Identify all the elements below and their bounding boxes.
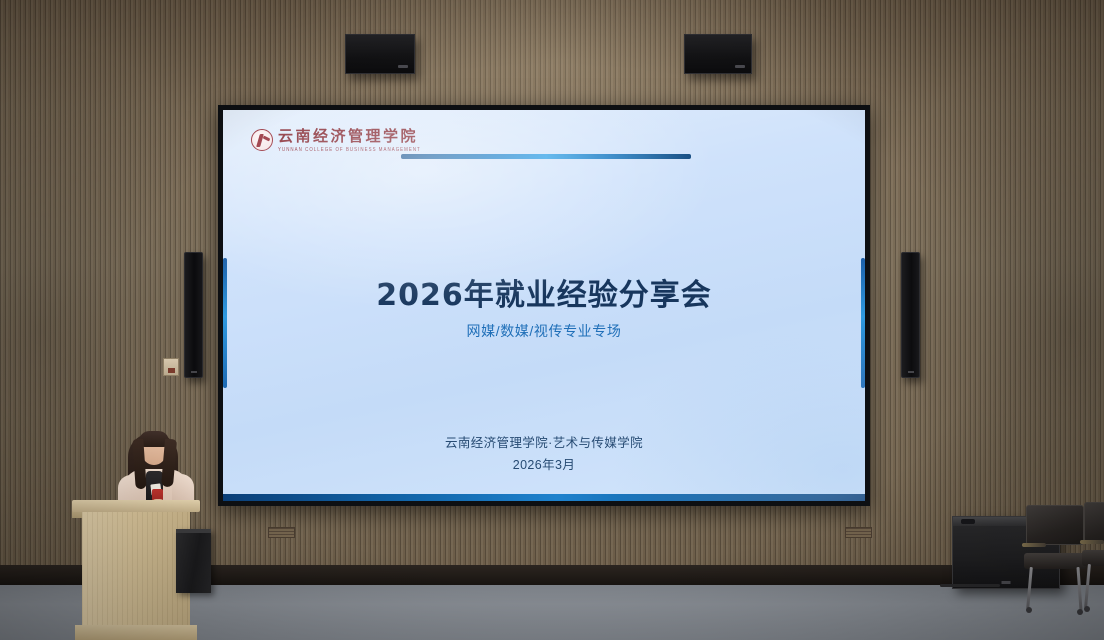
slide-header-rule [401, 154, 691, 159]
chair-seat [1082, 550, 1104, 566]
school-name-chinese: 云南经济管理学院 [278, 129, 421, 145]
wall-control-plate[interactable] [163, 358, 179, 376]
school-emblem-icon [251, 129, 273, 151]
wall-speaker-left [345, 34, 415, 74]
lectern-body [82, 512, 190, 625]
chair-armrest [1022, 543, 1046, 547]
lectern-top [72, 500, 200, 512]
wall-vent-right [845, 527, 872, 538]
column-speaker-right [901, 252, 920, 378]
chair-right[interactable] [1080, 502, 1104, 612]
chair-backrest [1026, 505, 1084, 545]
subwoofer-handle [961, 519, 975, 524]
chair-backrest [1084, 502, 1104, 542]
auditorium-scene: 云南经济管理学院 YUNNAN COLLEGE OF BUSINESS MANA… [0, 0, 1104, 640]
trash-bin [176, 529, 211, 593]
chair-leg [1026, 567, 1033, 609]
subwoofer-badge [1002, 581, 1011, 584]
wall-speaker-right [684, 34, 752, 74]
wall-vent-left [268, 527, 295, 538]
floor-cable [940, 584, 1000, 587]
school-logo: 云南经济管理学院 YUNNAN COLLEGE OF BUSINESS MANA… [251, 129, 421, 151]
slide-date: 2026年3月 [223, 454, 865, 473]
slide-bottom-band [223, 494, 865, 501]
slide-canvas: 云南经济管理学院 YUNNAN COLLEGE OF BUSINESS MANA… [223, 110, 865, 501]
school-name-english: YUNNAN COLLEGE OF BUSINESS MANAGEMENT [278, 146, 421, 152]
school-logo-text: 云南经济管理学院 YUNNAN COLLEGE OF BUSINESS MANA… [278, 129, 421, 151]
slide-organizer: 云南经济管理学院·艺术与传媒学院 [223, 432, 865, 451]
lectern-base [75, 625, 197, 640]
chair-caster [1026, 607, 1032, 613]
slide-title: 2026年就业经验分享会 [223, 270, 865, 314]
chair-armrest [1080, 540, 1104, 544]
chair-leg [1084, 564, 1091, 608]
column-speaker-left [184, 252, 203, 378]
presentation-screen[interactable]: 云南经济管理学院 YUNNAN COLLEGE OF BUSINESS MANA… [218, 105, 870, 506]
slide-subtitle: 网媒/数媒/视传专业专场 [223, 321, 865, 341]
chair-caster [1084, 606, 1090, 612]
